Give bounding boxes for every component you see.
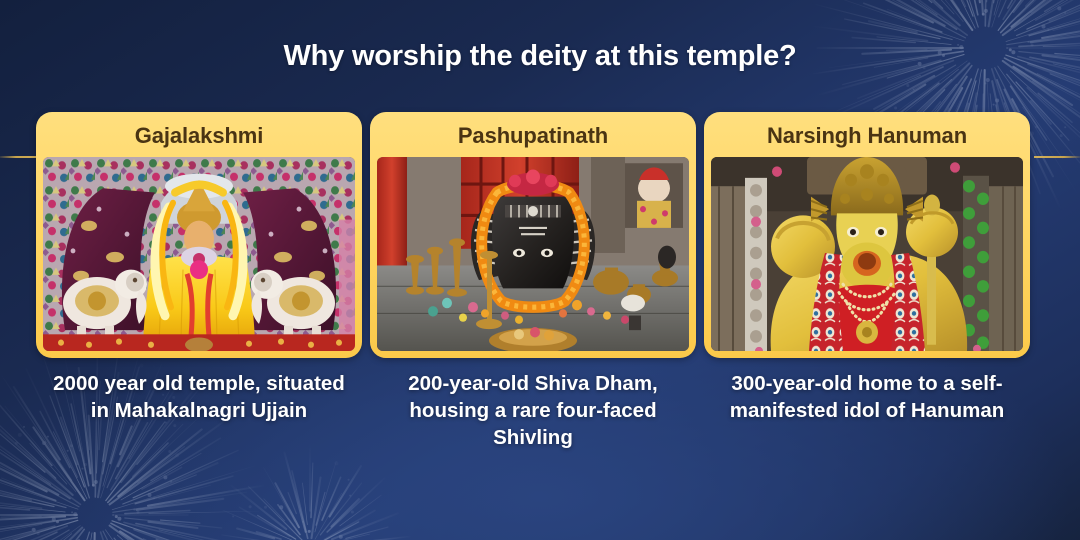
card-title: Gajalakshmi [43, 119, 355, 157]
card-title: Narsingh Hanuman [711, 119, 1023, 157]
temple-card-pashupatinath[interactable]: Pashupatinath [370, 112, 696, 358]
temple-card-row: Gajalakshmi [36, 112, 1048, 358]
firework-burst-bottom-center-icon [207, 444, 409, 540]
temple-card-narsingh-hanuman[interactable]: Narsingh Hanuman [704, 112, 1030, 358]
narsingh-hanuman-idol-photo [711, 157, 1023, 351]
card-title: Pashupatinath [377, 119, 689, 157]
pashupatinath-shivling-photo [377, 157, 689, 351]
temple-card-gajalakshmi[interactable]: Gajalakshmi [36, 112, 362, 358]
gajalakshmi-deity-photo [43, 157, 355, 351]
caption-gajalakshmi: 2000 year old temple, situated in Mahaka… [36, 370, 362, 451]
page-title: Why worship the deity at this temple? [0, 40, 1080, 73]
caption-narsingh-hanuman: 300-year-old home to a self-manifested i… [704, 370, 1030, 451]
caption-pashupatinath: 200-year-old Shiva Dham, housing a rare … [370, 370, 696, 451]
temple-caption-row: 2000 year old temple, situated in Mahaka… [36, 370, 1048, 451]
